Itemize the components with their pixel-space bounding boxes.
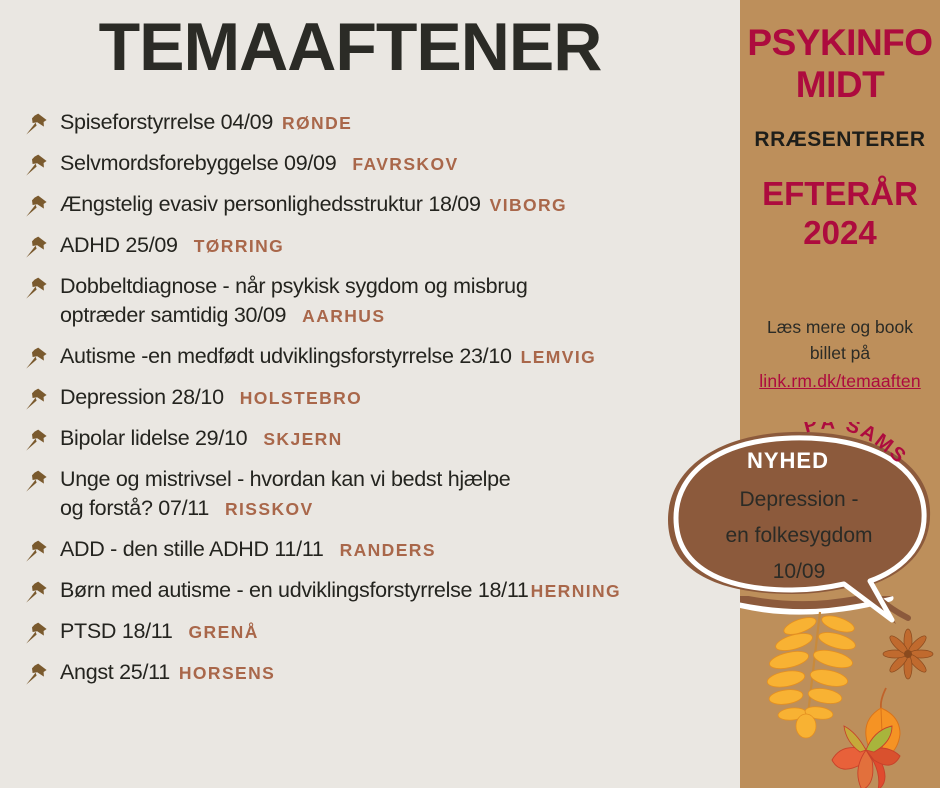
event-title: ADHD 25/09 — [60, 233, 178, 257]
booking-link[interactable]: link.rm.dk/temaaften — [740, 368, 940, 394]
event-title-line2: optræder samtidig 30/09AARHUS — [60, 301, 528, 331]
event-title: Selvmordsforebyggelse 09/09 — [60, 151, 336, 175]
event-row[interactable]: Bipolar lidelse 29/10SKJERN — [24, 424, 740, 454]
event-title: Angst 25/11 — [60, 660, 170, 684]
booking-info: Læs mere og book billet på link.rm.dk/te… — [740, 314, 940, 394]
bubble-content: NYHED Depression - en folkesygdom 10/09 — [684, 448, 914, 590]
poster-root: TEMAAFTENER Spiseforstyrrelse 04/09RØNDE… — [0, 0, 940, 788]
event-title: Unge og mistrivsel - hvordan kan vi beds… — [60, 467, 510, 491]
event-city: VIBORG — [490, 195, 567, 215]
event-city: HOLSTEBRO — [240, 388, 362, 408]
pushpin-wrap — [24, 535, 60, 564]
pushpin-icon — [24, 386, 50, 412]
event-row[interactable]: PTSD 18/11GRENÅ — [24, 617, 740, 647]
brand-name-line2: MIDT — [740, 64, 940, 106]
event-text: Dobbeltdiagnose - når psykisk sygdom og … — [60, 272, 528, 331]
news-speech-bubble: PÅ SAMSØ NYHED Depression - en folkesygd… — [660, 424, 940, 639]
event-title: Spiseforstyrrelse 04/09 — [60, 110, 273, 134]
event-text: ADD - den stille ADHD 11/11RANDERS — [60, 535, 436, 565]
pushpin-wrap — [24, 272, 60, 301]
event-row[interactable]: Depression 28/10HOLSTEBRO — [24, 383, 740, 413]
event-text: Depression 28/10HOLSTEBRO — [60, 383, 362, 413]
event-row[interactable]: ADD - den stille ADHD 11/11RANDERS — [24, 535, 740, 565]
event-city: FAVRSKOV — [352, 154, 458, 174]
pushpin-wrap — [24, 424, 60, 453]
pushpin-icon — [24, 234, 50, 260]
pushpin-wrap — [24, 342, 60, 371]
event-title: Ængstelig evasiv personlighedsstruktur 1… — [60, 192, 481, 216]
event-title: Dobbeltdiagnose - når psykisk sygdom og … — [60, 274, 528, 298]
year-label: 2024 — [740, 214, 940, 252]
event-city: RANDERS — [340, 540, 436, 560]
event-row[interactable]: Børn med autisme - en udviklingsforstyrr… — [24, 576, 740, 606]
bubble-body: Depression - en folkesygdom 10/09 — [684, 482, 914, 590]
event-city: LEMVIG — [521, 347, 597, 367]
pushpin-icon — [24, 193, 50, 219]
pushpin-icon — [24, 427, 50, 453]
event-city: TØRRING — [194, 236, 285, 256]
event-title-continued: og forstå? 07/11 — [60, 496, 209, 520]
booking-line1: Læs mere og book — [767, 317, 913, 337]
event-title: Bipolar lidelse 29/10 — [60, 426, 247, 450]
event-title: Børn med autisme - en udviklingsforstyrr… — [60, 578, 529, 602]
event-city: RISSKOV — [225, 499, 314, 519]
pushpin-wrap — [24, 231, 60, 260]
event-row[interactable]: Autisme -en medfødt udviklingsforstyrrel… — [24, 342, 740, 372]
brand-name-line1: PSYKINFO — [740, 22, 940, 64]
event-row[interactable]: Angst 25/11HORSENS — [24, 658, 740, 688]
pushpin-icon — [24, 661, 50, 687]
bubble-line3: 10/09 — [684, 554, 914, 590]
page-title: TEMAAFTENER — [0, 8, 700, 86]
event-text: PTSD 18/11GRENÅ — [60, 617, 259, 647]
event-city: RØNDE — [282, 113, 352, 133]
nyhed-badge: NYHED — [662, 448, 914, 474]
pushpin-icon — [24, 152, 50, 178]
event-text: Autisme -en medfødt udviklingsforstyrrel… — [60, 342, 596, 372]
event-text: Selvmordsforebyggelse 09/09FAVRSKOV — [60, 149, 459, 179]
pushpin-wrap — [24, 658, 60, 687]
event-row[interactable]: ADHD 25/09TØRRING — [24, 231, 740, 261]
bubble-line1: Depression - — [684, 482, 914, 518]
event-text: Unge og mistrivsel - hvordan kan vi beds… — [60, 465, 510, 524]
main-panel: TEMAAFTENER Spiseforstyrrelse 04/09RØNDE… — [0, 0, 740, 788]
event-title: ADD - den stille ADHD 11/11 — [60, 537, 324, 561]
pushpin-wrap — [24, 465, 60, 494]
pushpin-icon — [24, 620, 50, 646]
pushpin-icon — [24, 579, 50, 605]
event-list: Spiseforstyrrelse 04/09RØNDESelvmordsfor… — [24, 108, 740, 699]
event-row[interactable]: Selvmordsforebyggelse 09/09FAVRSKOV — [24, 149, 740, 179]
event-city: HERNING — [531, 581, 622, 601]
event-row[interactable]: Dobbeltdiagnose - når psykisk sygdom og … — [24, 272, 740, 331]
event-text: Ængstelig evasiv personlighedsstruktur 1… — [60, 190, 567, 220]
pushpin-icon — [24, 538, 50, 564]
bubble-line2: en folkesygdom — [684, 518, 914, 554]
event-row[interactable]: Unge og mistrivsel - hvordan kan vi beds… — [24, 465, 740, 524]
event-title: PTSD 18/11 — [60, 619, 173, 643]
pushpin-icon — [24, 111, 50, 137]
pushpin-wrap — [24, 383, 60, 412]
event-text: Børn med autisme - en udviklingsforstyrr… — [60, 576, 621, 606]
event-title: Autisme -en medfødt udviklingsforstyrrel… — [60, 344, 512, 368]
event-text: ADHD 25/09TØRRING — [60, 231, 284, 261]
pushpin-wrap — [24, 617, 60, 646]
event-text: Bipolar lidelse 29/10SKJERN — [60, 424, 343, 454]
season-label: EFTERÅR — [740, 174, 940, 214]
event-title: Depression 28/10 — [60, 385, 224, 409]
pushpin-wrap — [24, 149, 60, 178]
event-row[interactable]: Spiseforstyrrelse 04/09RØNDE — [24, 108, 740, 138]
presents-label: RRÆSENTERER — [740, 128, 940, 152]
event-title-line2: og forstå? 07/11RISSKOV — [60, 494, 510, 524]
pushpin-wrap — [24, 190, 60, 219]
event-city: AARHUS — [302, 306, 385, 326]
event-city: GRENÅ — [189, 622, 259, 642]
event-text: Angst 25/11HORSENS — [60, 658, 275, 688]
booking-line2: billet på — [810, 343, 870, 363]
event-city: HORSENS — [179, 663, 275, 683]
pushpin-icon — [24, 468, 50, 494]
event-row[interactable]: Ængstelig evasiv personlighedsstruktur 1… — [24, 190, 740, 220]
pushpin-icon — [24, 275, 50, 301]
event-title-continued: optræder samtidig 30/09 — [60, 303, 286, 327]
pushpin-wrap — [24, 108, 60, 137]
event-city: SKJERN — [263, 429, 342, 449]
pushpin-icon — [24, 345, 50, 371]
pushpin-wrap — [24, 576, 60, 605]
event-text: Spiseforstyrrelse 04/09RØNDE — [60, 108, 352, 138]
